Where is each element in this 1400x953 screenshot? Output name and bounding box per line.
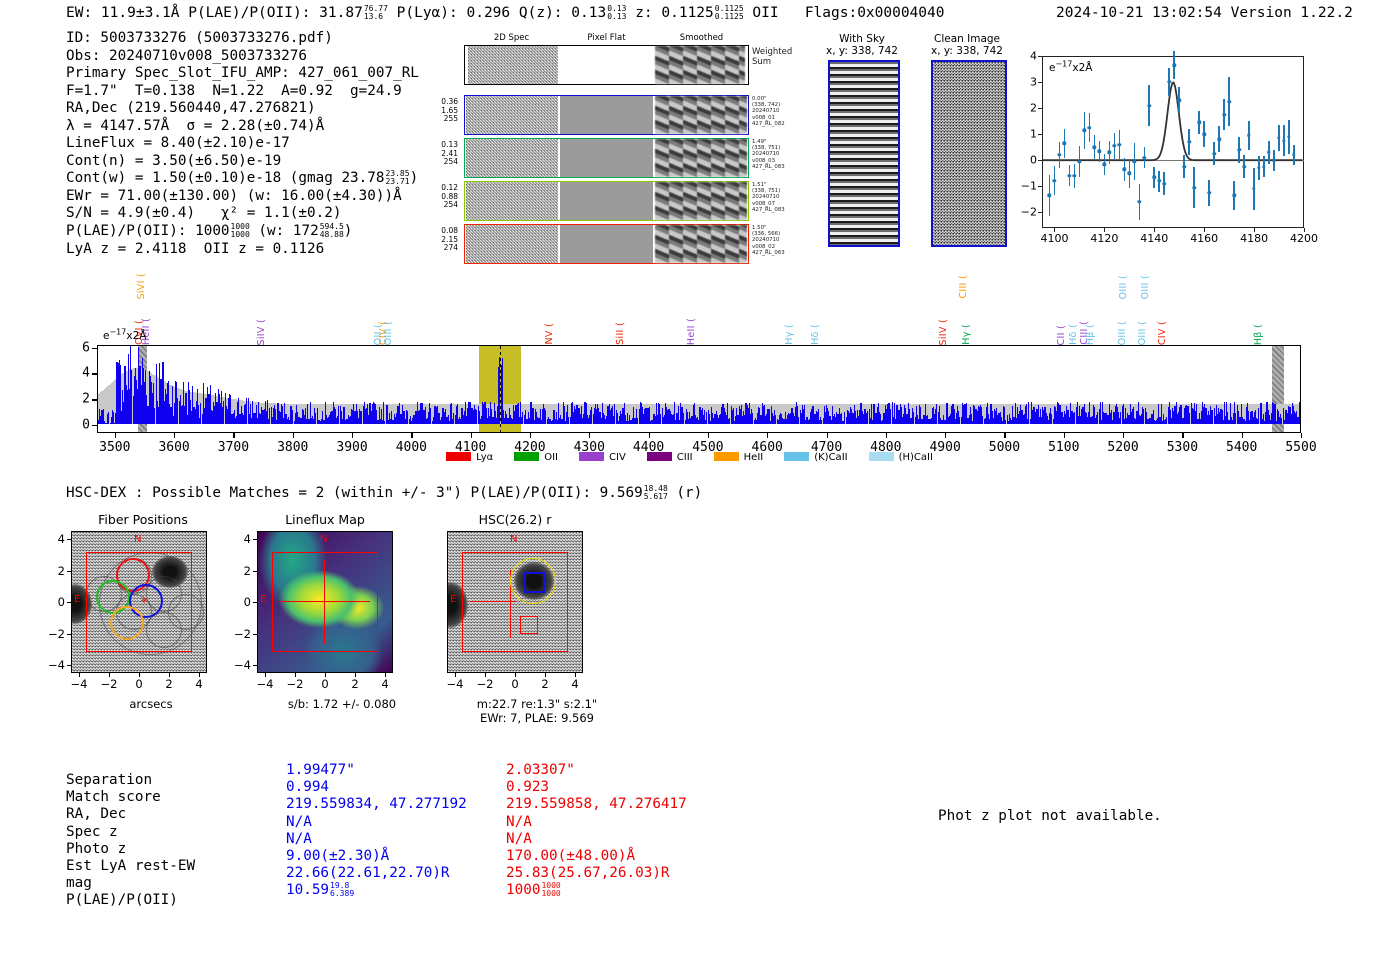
cutout-clean-coords: x, y: 338, 742 (912, 45, 1022, 58)
spectral-line-label: SiII ( (615, 322, 626, 345)
info-radec: RA,Dec (219.560440,47.276821) (66, 100, 419, 118)
panel-x-tick-label: −4 (71, 677, 88, 691)
photz-note: Phot z plot not available. (938, 808, 1162, 824)
spec-x-tick (1123, 433, 1124, 438)
panel-fiber-positions-title: Fiber Positions (63, 512, 223, 527)
legend-entry: HeII (714, 452, 764, 463)
info-wavelength-sigma: λ = 4147.57Å σ = 2.28(±0.74)Å (66, 118, 419, 136)
hscdex-headline: HSC-DEX : Possible Matches = 2 (within +… (66, 485, 702, 501)
matches-col1-value: N/A (286, 814, 312, 831)
info-snr-chi2: S/N = 4.9(±0.4) χ² = 1.1(±0.2) (66, 205, 419, 223)
spectral-line-label: Hγ ( (784, 324, 795, 345)
spec-x-tick (115, 433, 116, 438)
spec-row-3-stats: 0.120.88254 (424, 184, 458, 210)
spec-img-pixelflat-3 (560, 182, 653, 220)
matches-col1-value: 1.99477" (286, 762, 355, 779)
spec-row-fiber-2 (464, 138, 749, 178)
spec-row-fiber-1 (464, 95, 749, 135)
matches-col2-value: 0.923 (506, 779, 549, 796)
panel-lineflux-map-title: Lineflux Map (240, 512, 410, 527)
header-plya: P(Lyα): 0.296 (397, 5, 511, 21)
spec-y-tick (92, 373, 97, 374)
panel-x-tick-label: 2 (165, 677, 172, 691)
panel-x-tick-label: 4 (571, 677, 578, 691)
panel-x-tick-label: 2 (351, 677, 358, 691)
spec-y-tick (92, 425, 97, 426)
y-tick (1038, 160, 1042, 161)
spec-row-4-meta: 1.50"(336, 566)20240710v008_02427_RL_063 (752, 225, 812, 256)
legend-label: HeII (744, 452, 764, 463)
spec-x-tick (649, 433, 650, 438)
spec-row-1-stats: 0.361.65255 (424, 98, 458, 124)
info-plae-w-errors: 594.548.88 (320, 223, 344, 239)
header-z: z: 0.1125 (635, 5, 714, 21)
spec-img-smoothed-3 (655, 182, 747, 220)
spec-title-pixelflat: Pixel Flat (559, 33, 654, 43)
legend-label: OII (544, 452, 558, 463)
legend-swatch (869, 452, 894, 461)
panel-x-tick-label: −2 (101, 677, 118, 691)
spectral-line-label: Hβ ( (1085, 324, 1096, 345)
panel-y-tick-label: 2 (58, 564, 65, 578)
full-spectrum-legend: LyαOIICIVCIIIHeII(K)CaII(H)CaII (0, 452, 1400, 463)
header-z-type: OII (752, 5, 778, 21)
matches-row-label: P(LAE)/P(OII) (66, 892, 178, 909)
info-gmag-errors: 23.8523.71 (385, 170, 409, 186)
spec-img-2dspec-1 (466, 96, 558, 134)
spectral-line-label: SiIV ( (256, 319, 267, 346)
panel-y-tick-label: −4 (48, 658, 65, 672)
spec-y-tick-label: 4 (82, 366, 90, 381)
spec-img-2dspec-2 (466, 139, 558, 177)
info-plae-poii: P(LAE)/P(OII): 100010001000 (w: 172594.5… (66, 223, 419, 241)
legend-entry: CIV (579, 452, 626, 463)
legend-swatch (514, 452, 539, 461)
spec-x-tick (530, 433, 531, 438)
matches-col2-value: N/A (506, 831, 532, 848)
info-obs: Obs: 20240710v008_5003733276 (66, 48, 419, 66)
info-plae-errors: 10001000 (231, 223, 250, 239)
spec-img-2dspec-sum (468, 46, 558, 84)
spec-x-tick (352, 433, 353, 438)
x-tick-label: 4140 (1140, 232, 1168, 245)
full-spectrum-unit-label: e−17x2Å (103, 330, 146, 342)
source-info-block: ID: 5003733276 (5003733276.pdf) Obs: 202… (66, 30, 419, 258)
panel-y-tick (67, 665, 71, 666)
spectral-line-label: OIII ( (383, 321, 394, 345)
y-tick (1038, 212, 1042, 213)
panel-y-tick-label: 2 (244, 564, 251, 578)
spec-img-pixelflat-2 (560, 139, 653, 177)
spec-title-smoothed: Smoothed (654, 33, 749, 43)
spec-img-2dspec-4 (466, 225, 558, 263)
spec-img-smoothed-1 (655, 96, 747, 134)
spec-x-tick (174, 433, 175, 438)
spec-row-1-meta: 0.00"(338, 742)20240710v008_01427_RL_082 (752, 96, 812, 127)
panel-y-tick (67, 634, 71, 635)
header-z-errors: 0.11250.1125 (715, 5, 744, 21)
x-tick-label: 4200 (1290, 232, 1318, 245)
spec-x-tick (233, 433, 234, 438)
spectral-line-label: CII ( (1056, 325, 1067, 345)
matches-row-label: mag (66, 875, 92, 892)
panel-y-tick (253, 634, 257, 635)
spectral-line-label: SiVI ( (136, 273, 147, 300)
lineflux-map-caption: s/b: 1.72 +/- 0.080 (257, 698, 427, 712)
panel-y-tick (253, 571, 257, 572)
info-cont-wide: Cont(w) = 1.50(±0.10)e-18 (gmag 23.7823.… (66, 170, 419, 188)
spectral-line-label: OIII ( (1137, 321, 1148, 345)
panel-y-tick (253, 665, 257, 666)
spec-img-smoothed-2 (655, 139, 747, 177)
cutout-with-sky-image (828, 60, 900, 247)
info-ewr: EWr = 71.00(±130.00) (w: 16.00(±4.30))Å (66, 188, 419, 206)
y-tick-label: 4 (1030, 50, 1037, 63)
legend-entry: CIII (647, 452, 693, 463)
spec-x-tick (1004, 433, 1005, 438)
legend-entry: Lyα (446, 452, 493, 463)
panel-y-tick (253, 539, 257, 540)
spec-x-tick (767, 433, 768, 438)
info-lineflux: LineFlux = 8.40(±2.10)e-17 (66, 135, 419, 153)
spec-x-tick (411, 433, 412, 438)
cutout-clean-image-pixels (931, 60, 1007, 247)
info-seeing-throughput: F=1.7" T=0.138 N=1.22 A=0.92 g=24.9 (66, 83, 419, 101)
panel-x-tick-label: −2 (477, 677, 494, 691)
spec-row-fiber-3 (464, 181, 749, 221)
legend-entry: (K)CaII (784, 452, 847, 463)
matches-col1-plae-errors: 19.86.389 (330, 882, 354, 898)
spectral-line-label: CIII ( (958, 275, 969, 299)
legend-label: Lyα (476, 452, 493, 463)
full-spectrum-frame (97, 345, 1301, 433)
panel-x-tick-label: 0 (135, 677, 142, 691)
spectral-line-label: OIII ( (1117, 321, 1128, 345)
matches-col1-value: N/A (286, 831, 312, 848)
x-tick-label: 4100 (1040, 232, 1068, 245)
spectral-line-label: SiIV ( (938, 319, 949, 346)
y-tick-label: 2 (1030, 102, 1037, 115)
hsc-r-caption: m:22.7 re:1.3" s:2.1" (447, 698, 627, 712)
spec-x-tick (945, 433, 946, 438)
matches-col2-value: 219.559858, 47.276417 (506, 796, 687, 813)
legend-swatch (714, 452, 739, 461)
header-qz-errors: 0.130.13 (607, 5, 626, 21)
legend-swatch (446, 452, 471, 461)
x-tick-label: 4160 (1190, 232, 1218, 245)
matches-col2-value: N/A (506, 814, 532, 831)
info-redshifts: LyA z = 2.4118 OII z = 0.1126 (66, 241, 419, 259)
panel-y-tick-label: 0 (244, 595, 251, 609)
info-id: ID: 5003733276 (5003733276.pdf) (66, 30, 419, 48)
full-spectrum-data-layer (98, 346, 1300, 432)
hscdex-plae-errors: 18.485.617 (644, 485, 668, 501)
panel-y-tick-label: 0 (58, 595, 65, 609)
spec-img-pixelflat-1 (560, 96, 653, 134)
spec-x-tick (886, 433, 887, 438)
y-tick (1038, 82, 1042, 83)
info-primary-spec: Primary Spec_Slot_IFU_AMP: 427_061_007_R… (66, 65, 419, 83)
legend-label: (H)CaII (899, 452, 933, 463)
header-datetime-version: 2024-10-21 13:02:54 Version 1.22.2 (1056, 5, 1353, 21)
spectral-line-label: Hδ ( (810, 324, 821, 345)
spec-x-tick (1242, 433, 1243, 438)
spec-x-tick (1182, 433, 1183, 438)
matches-col1-value: 10.5919.86.389 (286, 882, 354, 899)
cutout-clean-title: Clean Image (912, 33, 1022, 46)
matches-row-label: Separation (66, 772, 152, 789)
header-plae-errors: 76.7713.6 (364, 5, 388, 21)
spec-x-tick (589, 433, 590, 438)
spec-img-smoothed-sum (655, 46, 745, 84)
hsc-r-caption2: EWr: 7, PLAE: 9.569 (447, 712, 627, 726)
panel-x-tick-label: 0 (511, 677, 518, 691)
y-tick-label: −1 (1021, 180, 1037, 193)
panel-x-tick-label: −4 (447, 677, 464, 691)
x-tick-label: 4180 (1240, 232, 1268, 245)
header-qz: Q(z): 0.13 (519, 5, 606, 21)
matches-col1-value: 9.00(±2.30)Å (286, 848, 389, 865)
panel-axis-2: −4−2024 (447, 531, 583, 673)
y-tick (1038, 108, 1042, 109)
y-tick (1038, 134, 1042, 135)
matches-row-label: Match score (66, 789, 161, 806)
spec-row-3-meta: 1.51"(338, 751)20240710v008_07427_RL_083 (752, 182, 812, 213)
matches-row-label: Est LyA rest-EW (66, 858, 195, 875)
matches-col1-value: 0.994 (286, 779, 329, 796)
fiber-positions-caption: arcsecs (71, 698, 231, 712)
legend-swatch (784, 452, 809, 461)
legend-entry: (H)CaII (869, 452, 933, 463)
cutout-with-sky-title: With Sky (812, 33, 912, 46)
y-tick (1038, 186, 1042, 187)
legend-swatch (647, 452, 672, 461)
panel-y-tick-label: −2 (234, 627, 251, 641)
panel-x-tick-label: 2 (541, 677, 548, 691)
matches-col2-value: 170.00(±48.00)Å (506, 848, 635, 865)
y-tick-label: 3 (1030, 76, 1037, 89)
spec-img-smoothed-4 (655, 225, 747, 263)
panel-axis-1: −4−2024420−2−4 (257, 531, 393, 673)
matches-col1-value: 219.559834, 47.277192 (286, 796, 467, 813)
spec-y-tick (92, 399, 97, 400)
full-spectrum-plot: 3500360037003800390040004100420043004400… (97, 345, 1301, 433)
matches-row-label: RA, Dec (66, 806, 126, 823)
line-fit-plot: e−17x2Å 410041204140416041804200−2−10123… (1042, 56, 1304, 228)
spec-y-tick-label: 0 (82, 418, 90, 433)
matches-col1-value: 22.66(22.61,22.70)R (286, 865, 450, 882)
panel-x-tick-label: 4 (195, 677, 202, 691)
spec-img-2dspec-3 (466, 182, 558, 220)
spectral-line-label: OIII ( (1140, 275, 1151, 299)
spec-panel-stack: 2D Spec Pixel Flat Smoothed Weighted Sum… (424, 33, 754, 255)
spectral-line-label: Hβ ( (1253, 324, 1264, 345)
panel-y-tick-label: −2 (48, 627, 65, 641)
panel-x-tick-label: −2 (287, 677, 304, 691)
spec-row-2-meta: 1.49"(338, 751)20240710v008_03427_RL_083 (752, 139, 812, 170)
spectral-line-label: NV ( (544, 323, 555, 345)
spec-x-tick (1301, 433, 1302, 438)
spec-x-tick (827, 433, 828, 438)
spec-y-tick-label: 6 (82, 340, 90, 355)
matches-col2-value: 100010001000 (506, 882, 561, 899)
spec-title-2dspec: 2D Spec (464, 33, 559, 43)
spectral-line-label: Hγ ( (961, 324, 972, 345)
y-tick-label: −2 (1021, 206, 1037, 219)
spec-img-pixelflat-sum (560, 46, 653, 84)
spec-row-weighted-sum (464, 45, 749, 85)
y-tick (1038, 56, 1042, 57)
panel-y-tick-label: −4 (234, 658, 251, 672)
panel-x-tick-label: 0 (321, 677, 328, 691)
header-summary-line: EW: 11.9±3.1Å P(LAE)/P(OII): 31.8776.771… (66, 5, 945, 21)
spec-x-tick (293, 433, 294, 438)
header-flags: Flags:0x00004040 (805, 5, 945, 21)
spec-x-tick (708, 433, 709, 438)
spec-x-tick (1064, 433, 1065, 438)
panel-x-tick-label: 4 (381, 677, 388, 691)
panel-y-tick (67, 571, 71, 572)
matches-col2-plae-errors: 10001000 (541, 882, 560, 898)
panel-y-tick (253, 602, 257, 603)
spec-row-2-stats: 0.132.41254 (424, 141, 458, 167)
spec-row-fiber-4 (464, 224, 749, 264)
y-tick-label: 0 (1030, 154, 1037, 167)
spectral-line-label: CIV ( (1157, 321, 1168, 345)
legend-entry: OII (514, 452, 558, 463)
panel-y-tick (67, 539, 71, 540)
matches-row-label: Spec z (66, 824, 118, 841)
panel-y-tick (67, 602, 71, 603)
spec-weighted-sum-label: Weighted Sum (752, 47, 812, 67)
spectral-line-label: HeII ( (686, 318, 697, 345)
info-cont-narrow: Cont(n) = 3.50(±6.50)e-19 (66, 153, 419, 171)
header-ew-plae: EW: 11.9±3.1Å P(LAE)/P(OII): 31.87 (66, 5, 363, 21)
panel-y-tick-label: 4 (58, 532, 65, 546)
legend-label: CIV (609, 452, 626, 463)
panel-x-tick-label: −4 (257, 677, 274, 691)
legend-swatch (579, 452, 604, 461)
legend-label: (K)CaII (814, 452, 847, 463)
y-tick-label: 1 (1030, 128, 1037, 141)
spec-y-tick (92, 348, 97, 349)
spec-img-pixelflat-4 (560, 225, 653, 263)
spectral-line-label: OIII ( (1118, 275, 1129, 299)
emission-line-marker (500, 346, 501, 433)
spectral-line-label: Hδ ( (1068, 324, 1079, 345)
cutout-with-sky-coords: x, y: 338, 742 (812, 45, 912, 58)
spec-row-4-stats: 0.082.15274 (424, 227, 458, 253)
spec-y-tick-label: 2 (82, 392, 90, 407)
spec-x-tick (471, 433, 472, 438)
panel-axis-0: −4−2024420−2−4 (71, 531, 207, 673)
gaussian-fit-curve (1042, 56, 1304, 228)
matches-col2-value: 25.83(25.67,26.03)R (506, 865, 670, 882)
line-fit-data-layer (1042, 56, 1304, 228)
matches-col2-value: 2.03307" (506, 762, 575, 779)
panel-hsc-r-title: HSC(26.2) r (425, 512, 605, 527)
matches-row-label: Photo z (66, 841, 126, 858)
panel-y-tick-label: 4 (244, 532, 251, 546)
x-tick-label: 4120 (1090, 232, 1118, 245)
legend-label: CIII (677, 452, 693, 463)
